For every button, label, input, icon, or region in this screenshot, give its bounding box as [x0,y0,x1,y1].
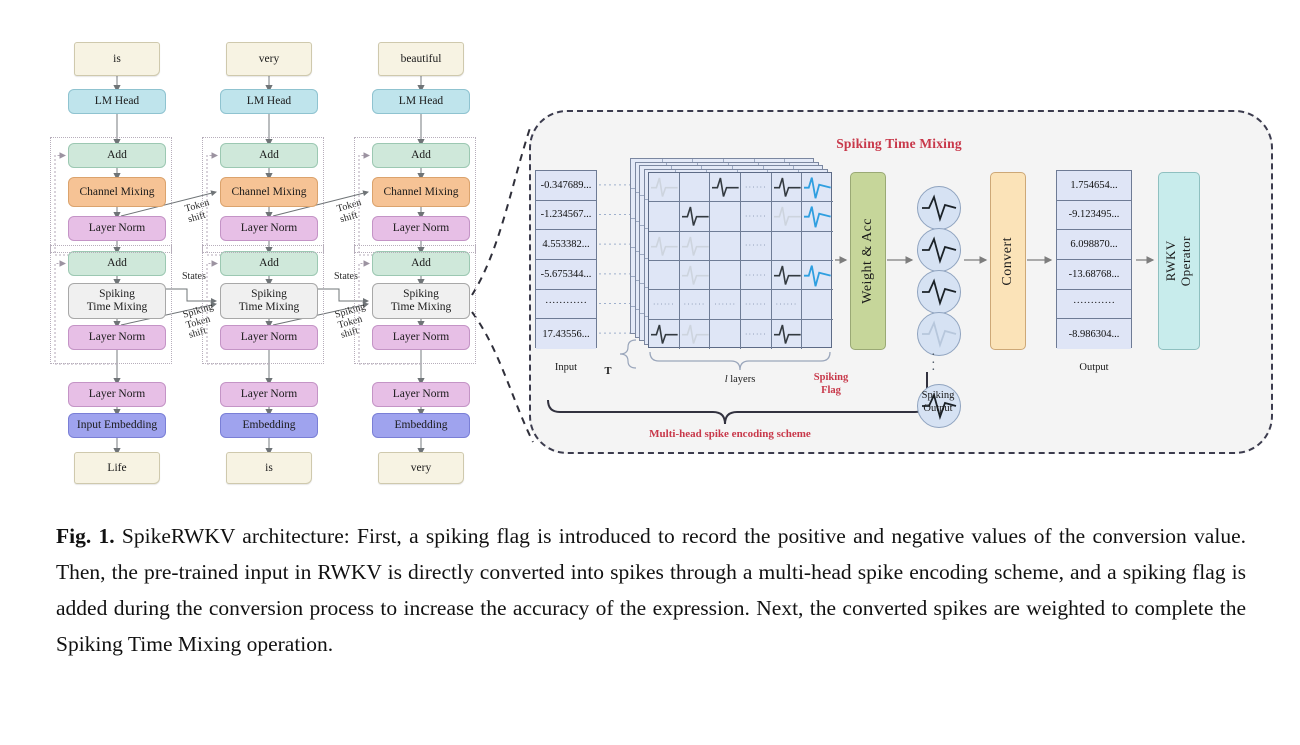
output-value-column: 1.754654...-9.123495...6.098870...-13.68… [1056,170,1132,348]
matrix-cell: ······ [772,290,803,319]
matrix-ellipsis: ······ [710,290,740,318]
rwkv-operator-box: RWKVOperator [1158,172,1200,350]
matrix-ellipsis: ······ [649,290,679,318]
matrix-cell [649,261,680,290]
matrix-cell [772,261,803,290]
input-token-box: is [226,452,312,484]
block-lnorm3-col0: Layer Norm [68,382,166,407]
spiking-output-circle [917,228,961,272]
matrix-cell: ······ [680,290,711,319]
matrix-cell [649,320,680,349]
spike-matrix: ········································… [648,172,832,348]
block-group-channel-mixing [50,137,172,253]
spiking-flag-label: SpikingFlag [796,372,866,397]
input-token-box: very [378,452,464,484]
matrix-cell [802,173,833,202]
matrix-cell: ······ [741,173,772,202]
input-value-cell: 4.553382... [536,230,596,260]
matrix-ellipsis: ······ [741,290,771,318]
spiking-output-circle [917,186,961,230]
input-value-cell: -0.347689... [536,171,596,201]
matrix-cell [772,232,803,261]
matrix-cell [649,173,680,202]
matrix-cell: ······ [741,320,772,349]
block-embed-col0: Input Embedding [68,413,166,438]
output-label: Output [1036,362,1152,374]
block-group-channel-mixing [202,137,324,253]
spiking-output-label: SpikingOutput [893,390,983,415]
multi-head-scheme-label: Multi-head spike encoding scheme [600,428,860,441]
figure-root: isLM HeadAddChannel MixingLayer NormAddS… [0,0,1300,745]
matrix-cell [802,320,833,349]
matrix-cell [772,202,803,231]
output-token-box: beautiful [378,42,464,76]
matrix-cell [772,173,803,202]
matrix-cell [710,232,741,261]
input-value-cell: -5.675344... [536,260,596,290]
matrix-cell: ······ [741,290,772,319]
output-value-cell: -9.123495... [1057,201,1131,231]
matrix-cell [649,232,680,261]
matrix-cell [680,261,711,290]
output-value-cell: -8.986304... [1057,319,1131,349]
rwkv-operator-label: RWKVOperator [1164,236,1194,286]
matrix-t-label: T [588,366,628,378]
block-lnorm3-col2: Layer Norm [372,382,470,407]
figure-caption-text: SpikeRWKV architecture: First, a spiking… [56,524,1246,656]
matrix-cell [802,202,833,231]
input-value-cell: -1.234567... [536,201,596,231]
panel-title: Spiking Time Mixing [529,136,1269,152]
matrix-ellipsis: ······ [741,261,771,289]
block-lmhead-col2: LM Head [372,89,470,114]
convert-box: Convert [990,172,1026,350]
block-lmhead-col1: LM Head [220,89,318,114]
matrix-cell: ······ [649,290,680,319]
output-value-cell: ············ [1057,290,1131,320]
block-group-time-mixing [50,245,172,364]
matrix-cell: ······ [741,232,772,261]
convert-label: Convert [1000,237,1016,286]
spiking-output-circle [917,312,961,356]
matrix-cell: ······ [741,202,772,231]
spiking-output-ellipsis: ··· [931,352,936,375]
matrix-ellipsis: ······ [680,290,710,318]
matrix-ellipsis: ······ [741,232,771,260]
matrix-ellipsis: ······ [741,320,771,349]
block-embed-col2: Embedding [372,413,470,438]
weight-acc-label: Weight & Acc [860,218,876,304]
matrix-cell: ······ [741,261,772,290]
matrix-ellipsis: ······ [741,202,771,230]
matrix-layers-label: l layers [696,374,784,386]
input-value-column: -0.347689...-1.234567...4.553382...-5.67… [535,170,597,348]
matrix-cell [772,320,803,349]
matrix-cell [710,202,741,231]
matrix-ellipsis: ······ [741,173,771,201]
block-group-time-mixing [202,245,324,364]
figure-caption: Fig. 1. SpikeRWKV architecture: First, a… [56,518,1246,662]
matrix-cell [680,232,711,261]
output-value-cell: -13.68768... [1057,260,1131,290]
matrix-cell [680,173,711,202]
output-token-box: is [74,42,160,76]
matrix-cell [710,320,741,349]
matrix-cell [710,173,741,202]
matrix-cell [802,261,833,290]
block-lnorm3-col1: Layer Norm [220,382,318,407]
output-value-cell: 6.098870... [1057,230,1131,260]
input-value-cell: 17.43556... [536,319,596,349]
block-group-time-mixing [354,245,476,364]
figure-label: Fig. 1. [56,524,115,548]
weight-acc-box: Weight & Acc [850,172,886,350]
matrix-cell [680,320,711,349]
input-value-cell: ············ [536,290,596,320]
input-token-box: Life [74,452,160,484]
matrix-cell [710,261,741,290]
matrix-cell [680,202,711,231]
matrix-cell [802,232,833,261]
block-lmhead-col0: LM Head [68,89,166,114]
spiking-output-circle [917,270,961,314]
matrix-cell [802,290,833,319]
output-value-cell: 1.754654... [1057,171,1131,201]
output-token-box: very [226,42,312,76]
matrix-cell: ······ [710,290,741,319]
block-group-channel-mixing [354,137,476,253]
block-embed-col1: Embedding [220,413,318,438]
matrix-cell [649,202,680,231]
matrix-ellipsis: ······ [772,290,802,318]
